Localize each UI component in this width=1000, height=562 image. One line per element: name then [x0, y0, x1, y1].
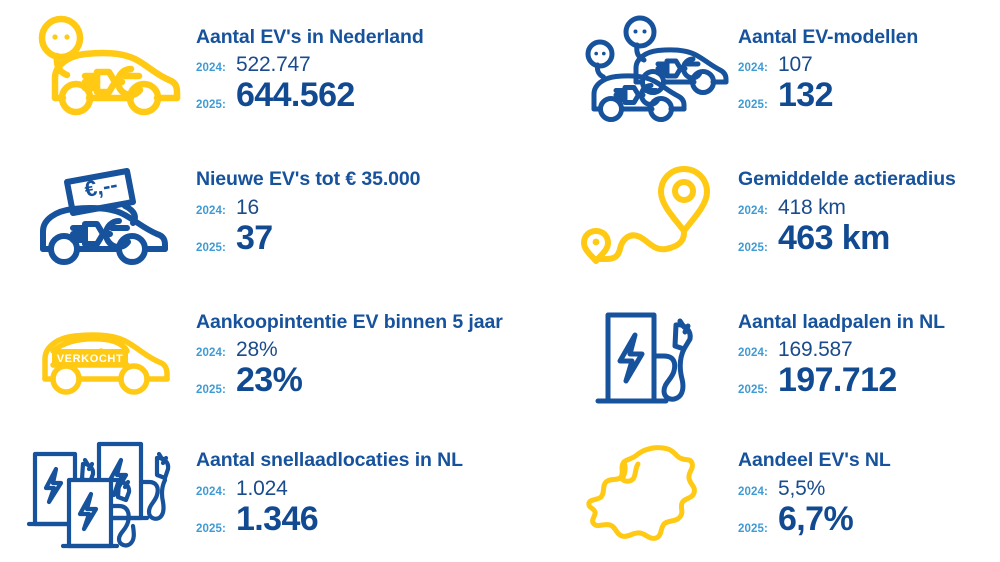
route-map-pins-icon	[580, 153, 730, 273]
stat-card-aantal-evs-in-nederland: Aantal EV's in Nederland 2024: 522.747 2…	[0, 0, 540, 140]
three-charging-stations-icon	[18, 434, 188, 554]
stat-value-current: 23%	[236, 363, 302, 399]
stat-row-previous: 2024: 16	[196, 196, 540, 219]
ev-statistics-infographic: Aantal EV's in Nederland 2024: 522.747 2…	[0, 0, 1000, 562]
stat-title: Aankoopintentie EV binnen 5 jaar	[196, 311, 540, 333]
stat-title: Aantal EV's in Nederland	[196, 26, 540, 48]
year-label-previous: 2024:	[196, 205, 236, 217]
stat-text-block: Aantal laadpalen in NL 2024: 169.587 202…	[730, 311, 1000, 399]
stat-value-previous: 418 km	[778, 196, 846, 219]
price-tag-text: €,--	[83, 171, 120, 201]
year-label-previous: 2024:	[738, 486, 778, 498]
stat-text-block: Aantal EV's in Nederland 2024: 522.747 2…	[188, 26, 540, 114]
year-label-previous: 2024:	[738, 205, 778, 217]
stat-row-previous: 2024: 1.024	[196, 477, 540, 500]
stat-title: Aantal EV-modellen	[738, 26, 1000, 48]
year-label-previous: 2024:	[196, 347, 236, 359]
year-label-previous: 2024:	[196, 62, 236, 74]
stat-card-aantal-snellaadlocaties-in-nl: Aantal snellaadlocaties in NL 2024: 1.02…	[0, 425, 540, 562]
year-label-current: 2025:	[738, 99, 778, 111]
stat-title: Nieuwe EV's tot € 35.000	[196, 168, 540, 190]
stat-title: Gemiddelde actieradius	[738, 168, 1000, 190]
stat-title: Aantal laadpalen in NL	[738, 311, 1000, 333]
stat-text-block: Gemiddelde actieradius 2024: 418 km 2025…	[730, 168, 1000, 256]
stat-value-previous: 107	[778, 53, 812, 76]
stat-card-aandeel-evs-nl: Aandeel EV's NL 2024: 5,5% 2025: 6,7%	[540, 425, 1000, 562]
stat-title: Aandeel EV's NL	[738, 449, 1000, 471]
stat-row-current: 2025: 6,7%	[738, 502, 1000, 538]
stat-row-previous: 2024: 5,5%	[738, 477, 1000, 500]
stat-value-current: 37	[236, 221, 273, 257]
stat-row-current: 2025: 37	[196, 221, 540, 257]
stat-row-current: 2025: 197.712	[738, 363, 1000, 399]
stat-value-current: 1.346	[236, 502, 318, 538]
stat-row-previous: 2024: 28%	[196, 338, 540, 361]
stat-value-current: 644.562	[236, 78, 355, 114]
year-label-current: 2025:	[196, 242, 236, 254]
stat-value-previous: 28%	[236, 338, 277, 361]
stat-card-gemiddelde-actieradius: Gemiddelde actieradius 2024: 418 km 2025…	[540, 140, 1000, 285]
stat-text-block: Aantal snellaadlocaties in NL 2024: 1.02…	[188, 449, 540, 537]
stat-row-previous: 2024: 418 km	[738, 196, 1000, 219]
charging-station-icon	[580, 295, 730, 415]
year-label-previous: 2024:	[738, 62, 778, 74]
stat-value-previous: 522.747	[236, 53, 311, 76]
stat-value-current: 132	[778, 78, 833, 114]
year-label-current: 2025:	[196, 384, 236, 396]
stat-row-current: 2025: 463 km	[738, 221, 1000, 257]
year-label-previous: 2024:	[196, 486, 236, 498]
year-label-current: 2025:	[196, 99, 236, 111]
stat-card-aankoopintentie-ev-binnen-5-jaar: VERKOCHT Aankoopintentie EV binnen 5 jaa…	[0, 285, 540, 425]
netherlands-map-icon	[580, 434, 730, 554]
stat-row-current: 2025: 644.562	[196, 78, 540, 114]
year-label-current: 2025:	[738, 523, 778, 535]
stat-row-current: 2025: 23%	[196, 363, 540, 399]
sold-banner-text: VERKOCHT	[57, 353, 124, 365]
year-label-current: 2025:	[196, 523, 236, 535]
stat-text-block: Nieuwe EV's tot € 35.000 2024: 16 2025: …	[188, 168, 540, 256]
stat-value-previous: 169.587	[778, 338, 853, 361]
stat-value-current: 463 km	[778, 221, 890, 257]
stat-value-previous: 5,5%	[778, 477, 825, 500]
stat-row-current: 2025: 1.346	[196, 502, 540, 538]
stat-row-current: 2025: 132	[738, 78, 1000, 114]
stat-row-previous: 2024: 169.587	[738, 338, 1000, 361]
year-label-current: 2025:	[738, 242, 778, 254]
stat-value-previous: 16	[236, 196, 259, 219]
stat-row-previous: 2024: 107	[738, 53, 1000, 76]
stat-text-block: Aandeel EV's NL 2024: 5,5% 2025: 6,7%	[730, 449, 1000, 537]
ev-car-with-price-tag-icon: €,--	[18, 153, 188, 273]
stat-card-aantal-laadpalen-in-nl: Aantal laadpalen in NL 2024: 169.587 202…	[540, 285, 1000, 425]
stat-text-block: Aankoopintentie EV binnen 5 jaar 2024: 2…	[188, 311, 540, 399]
stat-row-previous: 2024: 522.747	[196, 53, 540, 76]
two-ev-cars-with-sockets-icon	[580, 10, 730, 130]
stat-card-nieuwe-evs-tot-35000: €,-- Nieuwe EV's tot € 35.000 2024: 16 2…	[0, 140, 540, 285]
stat-value-current: 6,7%	[778, 502, 853, 538]
stat-text-block: Aantal EV-modellen 2024: 107 2025: 132	[730, 26, 1000, 114]
year-label-current: 2025:	[738, 384, 778, 396]
ev-car-with-socket-icon	[18, 10, 188, 130]
stat-value-previous: 1.024	[236, 477, 288, 500]
year-label-previous: 2024:	[738, 347, 778, 359]
stat-value-current: 197.712	[778, 363, 897, 399]
stat-card-aantal-ev-modellen: Aantal EV-modellen 2024: 107 2025: 132	[540, 0, 1000, 140]
sold-car-icon: VERKOCHT	[18, 295, 188, 415]
stat-title: Aantal snellaadlocaties in NL	[196, 449, 540, 471]
